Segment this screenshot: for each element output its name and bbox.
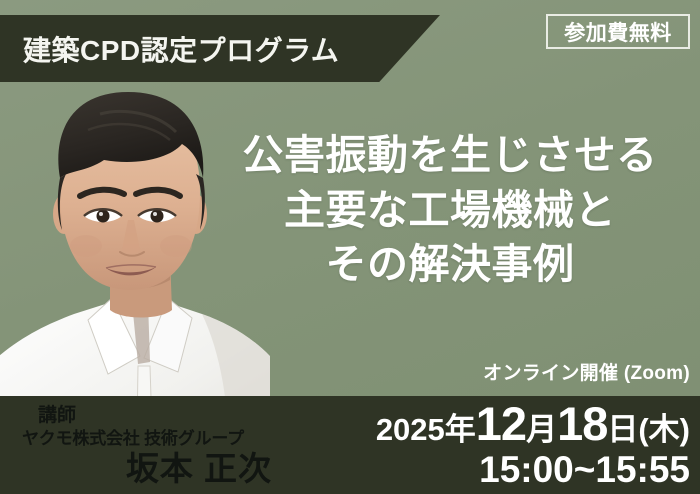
- online-format-note: オンライン開催 (Zoom): [483, 358, 690, 385]
- schedule-month-unit: 月: [526, 412, 557, 447]
- seminar-title: 公害振動を生じさせる 主要な工場機械と その解決事例: [212, 128, 688, 292]
- title-line-1: 公害振動を生じさせる: [212, 128, 688, 183]
- title-line-2: 主要な工場機械と: [212, 183, 688, 238]
- program-banner-label: 建築CPD認定プログラム: [23, 29, 339, 69]
- schedule-day-number: 18: [557, 397, 607, 450]
- free-admission-label: 参加費無料: [564, 17, 672, 47]
- schedule-weekday: (木): [638, 412, 690, 447]
- schedule-time: 15:00~15:55: [270, 451, 690, 490]
- seminar-poster: 建築CPD認定プログラム 参加費無料 公害振動を生じさせる 主要な工場機械と そ…: [0, 0, 700, 494]
- schedule-year: 2025年: [376, 412, 476, 447]
- schedule-date-row: 2025年12月18日(木): [270, 400, 690, 447]
- schedule-day-unit: 日: [607, 412, 638, 447]
- speaker-name: 坂本 正次: [22, 450, 272, 488]
- schedule-month-number: 12: [476, 397, 526, 450]
- program-banner: 建築CPD認定プログラム: [0, 15, 440, 82]
- free-admission-badge: 参加費無料: [546, 14, 690, 49]
- speaker-info: 講師 ヤクモ株式会社 技術グループ 坂本 正次: [22, 404, 272, 488]
- schedule-datetime: 2025年12月18日(木) 15:00~15:55: [270, 400, 690, 490]
- speaker-organization: ヤクモ株式会社 技術グループ: [22, 428, 272, 450]
- title-line-3: その解決事例: [212, 237, 688, 292]
- speaker-role: 講師: [38, 404, 272, 428]
